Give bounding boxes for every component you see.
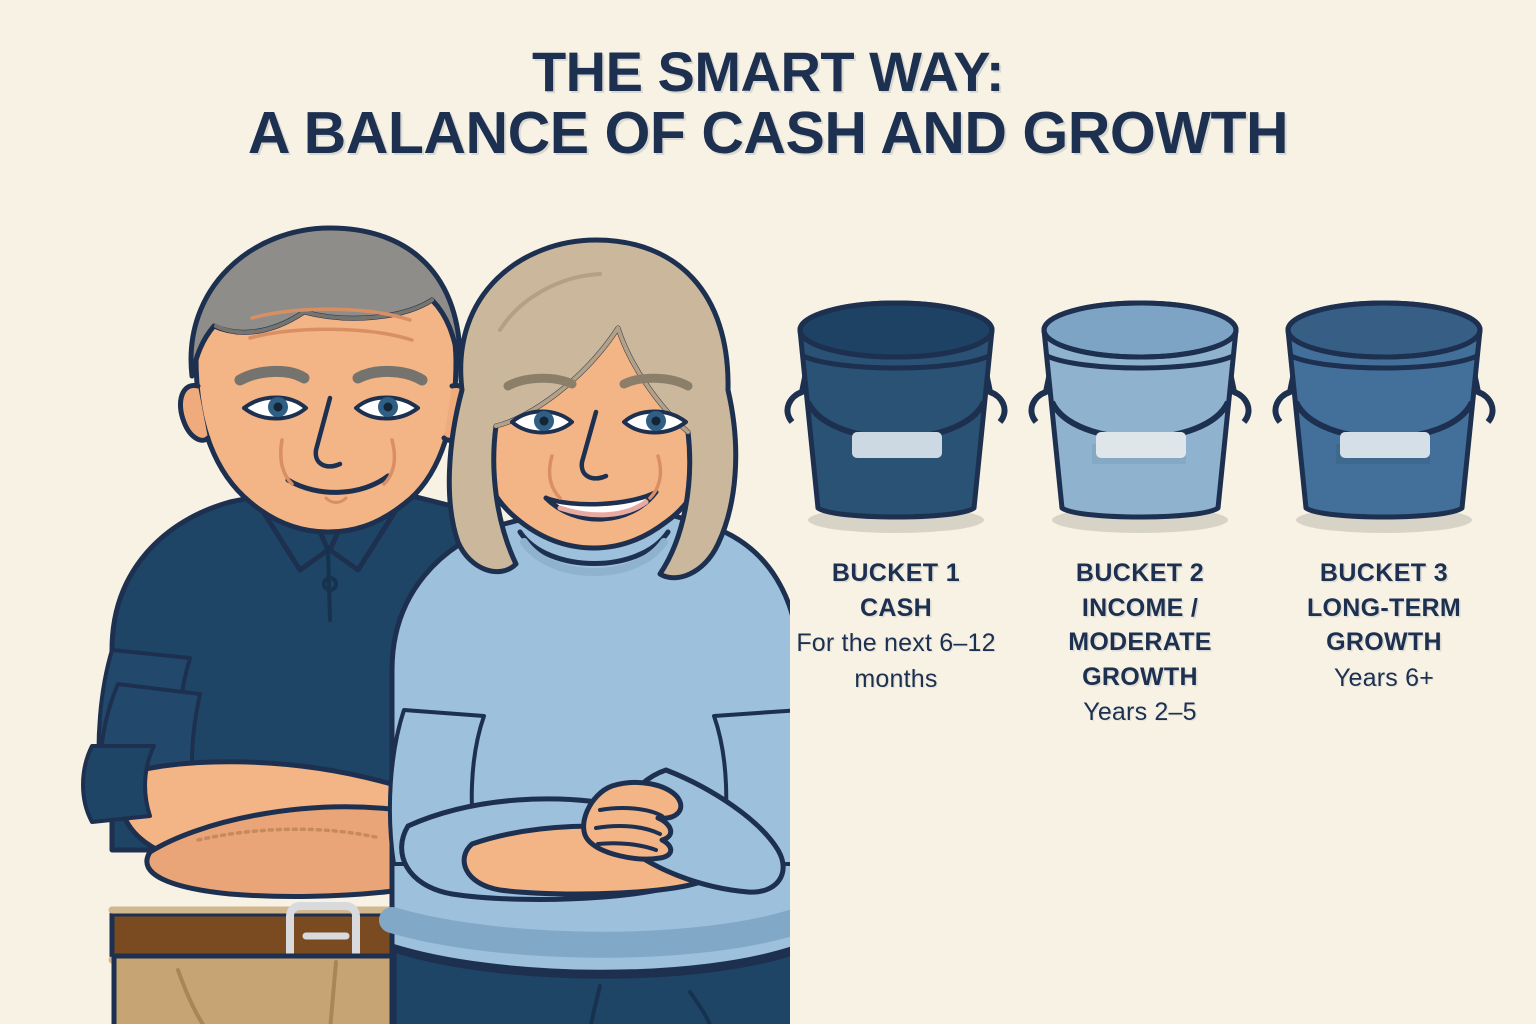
bucket-1-name: CASH (778, 591, 1014, 626)
bucket-2-name: INCOME / MODERATE GROWTH (1022, 591, 1258, 695)
bucket-3-label: BUCKET 3 (1266, 556, 1502, 591)
bucket-1-caption: BUCKET 1 CASH For the next 6–12 months (778, 556, 1014, 698)
bucket-1-label: BUCKET 1 (778, 556, 1014, 591)
bucket-2-label: BUCKET 2 (1022, 556, 1258, 591)
bucket-3-caption: BUCKET 3 LONG-TERM GROWTH Years 6+ (1266, 556, 1502, 696)
bucket-3-graphic (1266, 292, 1502, 537)
bucket-2-caption: BUCKET 2 INCOME / MODERATE GROWTH Years … (1022, 556, 1258, 730)
buckets-row (770, 292, 1536, 537)
page-title: THE SMART WAY: A BALANCE OF CASH AND GRO… (0, 42, 1536, 166)
bucket-3-name: LONG-TERM GROWTH (1266, 591, 1502, 660)
bucket-3-horizon: Years 6+ (1266, 660, 1502, 696)
title-line-2: A BALANCE OF CASH AND GROWTH (0, 102, 1536, 166)
bucket-2-graphic (1022, 292, 1258, 537)
retired-couple-illustration (0, 150, 790, 1024)
bucket-1-horizon: For the next 6–12 months (778, 625, 1014, 698)
infographic-canvas: THE SMART WAY: A BALANCE OF CASH AND GRO… (0, 0, 1536, 1024)
title-line-1: THE SMART WAY: (0, 42, 1536, 102)
bucket-1-graphic (778, 292, 1014, 537)
bucket-2-horizon: Years 2–5 (1022, 694, 1258, 730)
